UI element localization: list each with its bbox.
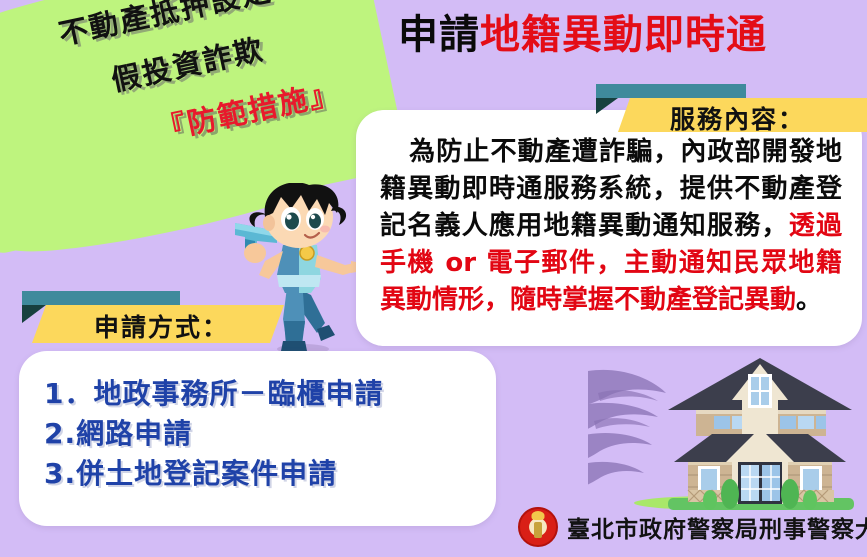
ribbon-fold-shape xyxy=(596,98,618,114)
apply-ribbon: 申請方式： xyxy=(22,291,284,343)
service-body-period: 。 xyxy=(796,285,822,315)
service-body-black: 為防止不動產遭詐騙，內政部開發地籍異動即時通服務系統，提供不動產登記名義人應用地… xyxy=(380,137,842,241)
poster-canvas: 不動產抵押設定 假投資詐欺 『防範措施』 申請地籍異動即時通 xyxy=(0,0,867,557)
title-red-part: 地籍異動即時通 xyxy=(480,12,767,58)
service-ribbon: 服務內容： xyxy=(592,84,867,132)
house-icon xyxy=(654,350,866,515)
apply-item-1: 1．地政事務所－臨櫃申請 xyxy=(44,374,474,414)
title-black-part: 申請 xyxy=(398,12,480,58)
apply-ribbon-label: 申請方式： xyxy=(94,308,229,344)
ribbon-teal-bar xyxy=(596,84,746,98)
footer-credit: 臺北市政府警察局刑事警察大隊 廣告 xyxy=(518,507,867,547)
apply-item-2: 2.網路申請 xyxy=(44,414,474,454)
page-title: 申請地籍異動即時通 xyxy=(398,14,767,56)
apply-item-3: 3.併土地登記案件申請 xyxy=(44,454,474,494)
service-body-text: 為防止不動產遭詐騙，內政部開發地籍異動即時通服務系統，提供不動產登記名義人應用地… xyxy=(380,134,842,319)
footer-organization: 臺北市政府警察局刑事警察大隊 xyxy=(567,510,867,544)
apply-methods-list: 1．地政事務所－臨櫃申請 2.網路申請 3.併土地登記案件申請 xyxy=(44,374,474,493)
service-ribbon-label: 服務內容： xyxy=(670,100,805,136)
ribbon-teal-bar xyxy=(22,291,180,305)
police-emblem-icon xyxy=(518,507,558,547)
